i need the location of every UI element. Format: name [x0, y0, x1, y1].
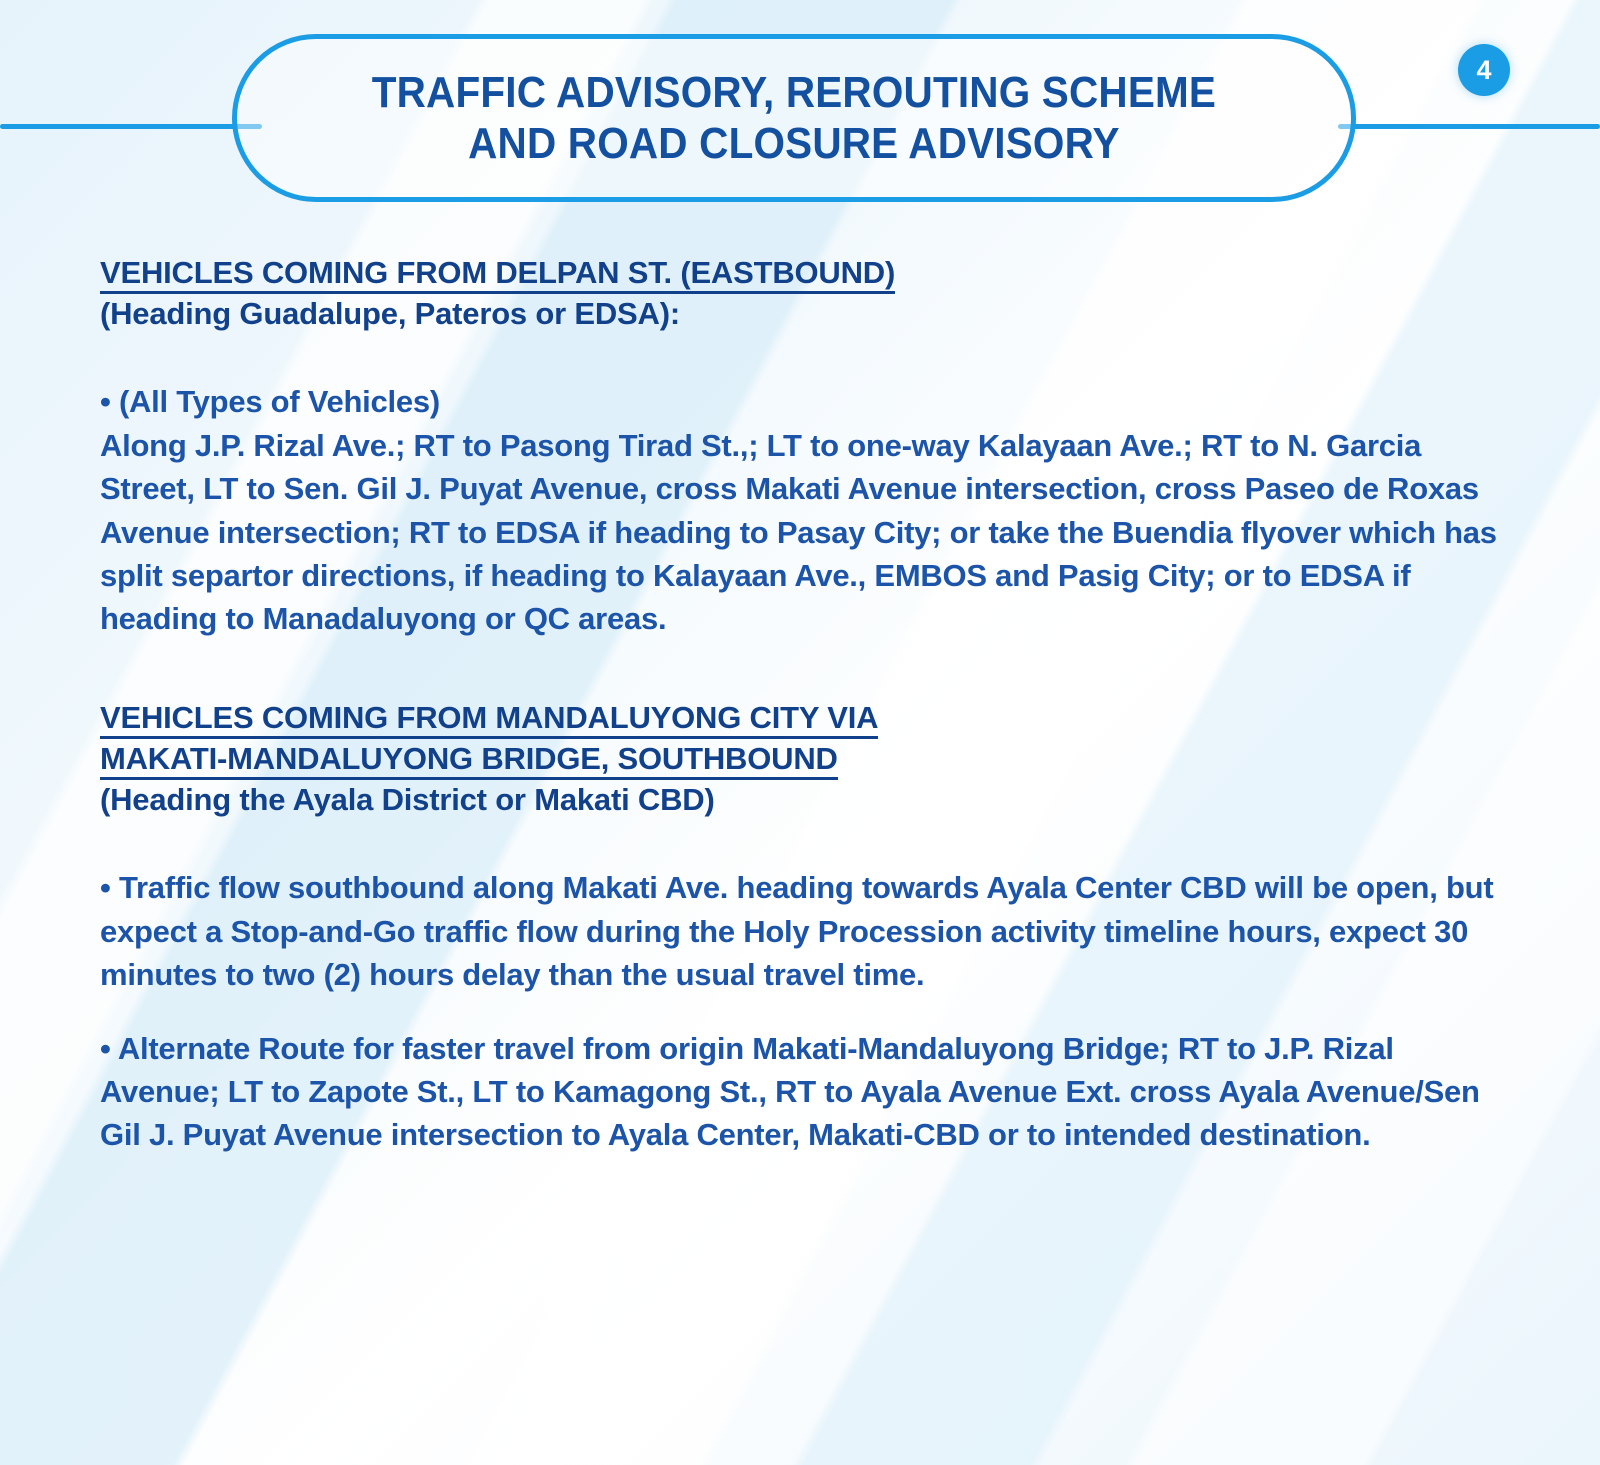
section-mandaluyong: VEHICLES COMING FROM MANDALUYONG CITY VI… [100, 697, 1500, 1157]
section-delpan-heading-text: VEHICLES COMING FROM DELPAN ST. (EASTBOU… [100, 255, 895, 294]
section-mandaluyong-subheading: (Heading the Ayala District or Makati CB… [100, 779, 1500, 820]
section-mandaluyong-heading-line2-text: MAKATI-MANDALUYONG BRIDGE, SOUTHBOUND [100, 741, 838, 780]
section-mandaluyong-heading-line1: VEHICLES COMING FROM MANDALUYONG CITY VI… [100, 697, 1500, 738]
section-delpan-subheading: (Heading Guadalupe, Pateros or EDSA): [100, 293, 1500, 334]
header-rule-right [1338, 124, 1600, 129]
header-rule-left [0, 124, 262, 129]
page-number-badge: 4 [1458, 44, 1510, 96]
section-delpan-heading: VEHICLES COMING FROM DELPAN ST. (EASTBOU… [100, 252, 1500, 293]
spacer [100, 820, 1500, 866]
spacer [100, 997, 1500, 1027]
title-pill-container: TRAFFIC ADVISORY, REROUTING SCHEME AND R… [232, 34, 1356, 202]
section-mandaluyong-bullet-1: • Traffic flow southbound along Makati A… [100, 866, 1500, 996]
section-delpan: VEHICLES COMING FROM DELPAN ST. (EASTBOU… [100, 252, 1500, 641]
section-delpan-body: Along J.P. Rizal Ave.; RT to Pasong Tira… [100, 424, 1500, 641]
advisory-content: VEHICLES COMING FROM DELPAN ST. (EASTBOU… [100, 252, 1500, 1157]
section-mandaluyong-bullet-2: • Alternate Route for faster travel from… [100, 1027, 1500, 1157]
section-mandaluyong-heading-line1-text: VEHICLES COMING FROM MANDALUYONG CITY VI… [100, 700, 878, 739]
section-delpan-bullet-label: • (All Types of Vehicles) [100, 380, 1500, 423]
advisory-page: TRAFFIC ADVISORY, REROUTING SCHEME AND R… [0, 0, 1600, 1465]
page-header: TRAFFIC ADVISORY, REROUTING SCHEME AND R… [0, 0, 1600, 230]
section-mandaluyong-heading-line2: MAKATI-MANDALUYONG BRIDGE, SOUTHBOUND [100, 738, 1500, 779]
spacer [100, 334, 1500, 380]
spacer [100, 641, 1500, 697]
page-title: TRAFFIC ADVISORY, REROUTING SCHEME AND R… [372, 67, 1216, 170]
